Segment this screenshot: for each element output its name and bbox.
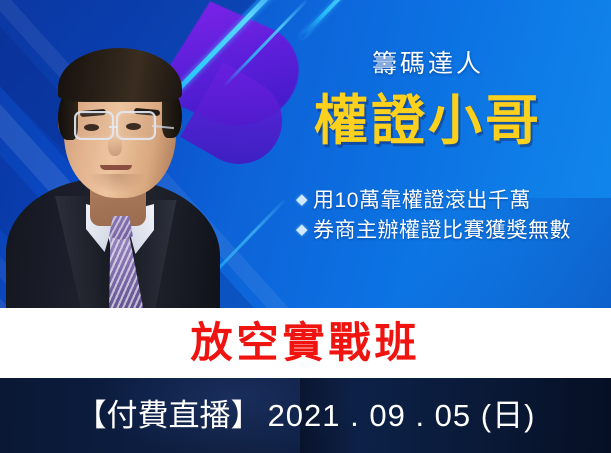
necktie-knot (109, 216, 133, 240)
hero-section: 籌碼達人 權證小哥 ◆ 用10萬靠權證滾出千萬 ◆ 券商主辦權證比賽獲獎無數 (0, 0, 611, 308)
mouth (100, 165, 132, 170)
list-item: ◆ 用10萬靠權證滾出千萬 (296, 186, 608, 216)
course-name-band: 放空實戰班 (0, 308, 611, 378)
instructor-portrait (6, 0, 220, 308)
footer-bar: 【付費直播】 2021 . 09 . 05 (日) (0, 378, 611, 453)
diamond-bullet-icon: ◆ (296, 189, 308, 210)
promo-banner: 籌碼達人 權證小哥 ◆ 用10萬靠權證滾出千萬 ◆ 券商主辦權證比賽獲獎無數 放… (0, 0, 611, 453)
bullet-text: 券商主辦權證比賽獲獎無數 (313, 216, 571, 246)
light-streak-decoration (300, 0, 370, 39)
nose (108, 136, 122, 156)
eyeglasses-lens-right (116, 111, 156, 140)
eyeglasses-lens-left (74, 111, 114, 140)
diamond-bullet-icon: ◆ (296, 219, 308, 240)
list-item: ◆ 券商主辦權證比賽獲獎無數 (296, 216, 608, 246)
hero-bullet-list: ◆ 用10萬靠權證滾出千萬 ◆ 券商主辦權證比賽獲獎無數 (296, 186, 608, 246)
event-date: 2021 . 09 . 05 (日) (268, 400, 536, 431)
footer-content: 【付費直播】 2021 . 09 . 05 (日) (0, 378, 611, 453)
eyeglasses-bridge (109, 126, 118, 128)
hero-subtitle: 籌碼達人 (245, 52, 611, 77)
hair (58, 48, 182, 102)
bullet-text: 用10萬靠權證滾出千萬 (313, 186, 531, 216)
chin-shading (90, 174, 144, 192)
live-stream-tag: 【付費直播】 (76, 400, 262, 431)
hero-main-title: 權證小哥 (245, 93, 611, 150)
course-title: 放空實戰班 (190, 322, 420, 364)
